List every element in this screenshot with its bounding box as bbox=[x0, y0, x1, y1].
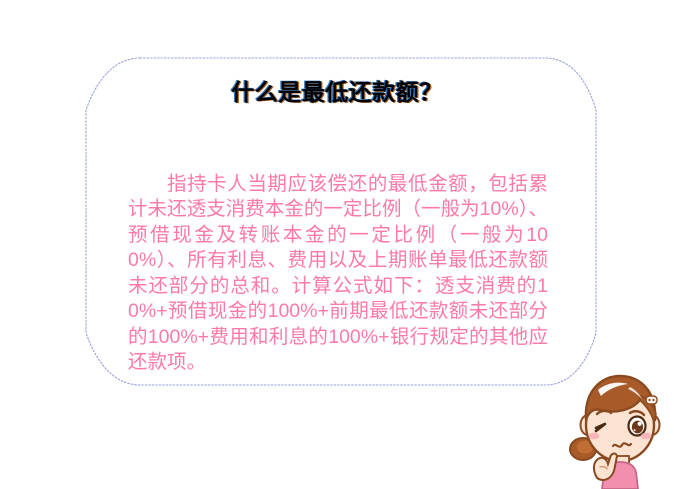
page-title: 什么是最低还款额？ bbox=[231, 80, 443, 105]
title-container: 什么是最低还款额？ bbox=[0, 80, 674, 105]
slide-canvas: 什么是最低还款额？ 指持卡人当期应该偿还的最低金额，包括累计未还透支消费本金的一… bbox=[0, 0, 674, 489]
hairclip-icon bbox=[646, 396, 657, 404]
body-container: 指持卡人当期应该偿还的最低金额，包括累计未还透支消费本金的一定比例（一般为10%… bbox=[128, 152, 548, 395]
eye-open-icon bbox=[629, 417, 646, 436]
mascot-cartoon-girl bbox=[566, 370, 674, 489]
body-paragraph: 指持卡人当期应该偿还的最低金额，包括累计未还透支消费本金的一定比例（一般为10%… bbox=[128, 172, 548, 376]
